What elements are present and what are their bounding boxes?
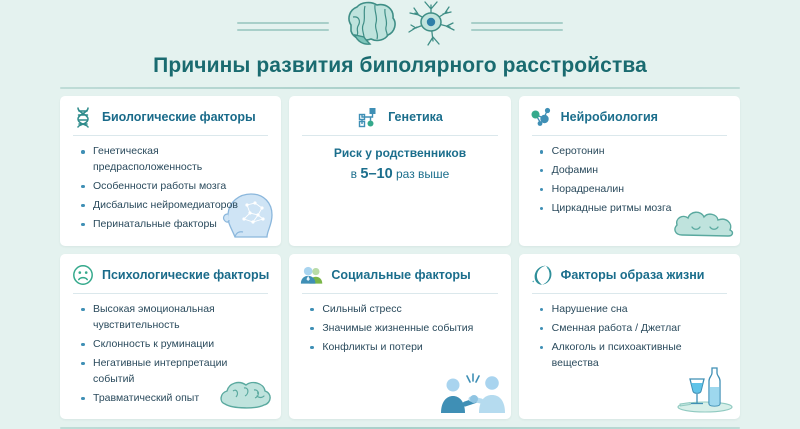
list-item: Значимые жизненные события: [310, 321, 499, 337]
card-header-divider: [73, 135, 268, 136]
card-header: Генетика: [300, 105, 499, 129]
crescent-moon-icon: [530, 263, 554, 287]
list-item: Сильный стресс: [310, 302, 499, 318]
genetics-suffix: раз выше: [393, 167, 450, 181]
genetics-risk-value: 5–10: [360, 166, 392, 182]
card-title: Генетика: [388, 110, 443, 124]
card-bullet-list: Генетическая предрасположенность Особенн…: [71, 144, 270, 233]
page-title: Причины развития биполярного расстройств…: [0, 54, 800, 78]
list-item: Нарушение сна: [540, 302, 729, 318]
dna-icon: [71, 105, 95, 129]
card-header: Биологические факторы: [71, 105, 270, 129]
list-item: Перинатальные факторы: [81, 217, 270, 233]
card-bullet-list: Нарушение сна Сменная работа / Джетлаг А…: [530, 302, 729, 372]
list-item: Серотонин: [540, 144, 729, 160]
genetics-body: Риск у родственников в 5–10 раз выше: [300, 144, 499, 185]
card-header-divider: [532, 135, 727, 136]
list-item: Дисбалыис нейромедиаторов: [81, 198, 270, 214]
list-item: Склонность к руминации: [81, 337, 270, 353]
card-header-divider: [73, 293, 268, 294]
card-bullet-list: Сильный стресс Значимые жизненные событи…: [300, 302, 499, 356]
list-item: Циркадные ритмы мозга: [540, 201, 729, 217]
card-header-divider: [532, 293, 727, 294]
card-social-factors[interactable]: Социальные факторы Сильный стресс Значим…: [289, 254, 510, 420]
list-item: Конфликты и потери: [310, 340, 499, 356]
card-header-divider: [302, 135, 497, 136]
family-tree-icon: [357, 105, 381, 129]
card-header: Психологические факторы: [71, 263, 270, 287]
brain-icon: [341, 0, 399, 54]
list-item: Генетическая предрасположенность: [81, 144, 270, 176]
header-artwork: [329, 0, 471, 54]
card-bullet-list: Серотонин Дофамин Норадреналин Циркадные…: [530, 144, 729, 217]
card-lifestyle-factors[interactable]: Факторы образа жизни Нарушение сна Сменн…: [519, 254, 740, 420]
genetics-line-1: Риск у родственников: [300, 144, 499, 163]
card-title: Биологические факторы: [102, 110, 256, 124]
card-title: Факторы образа жизни: [561, 268, 705, 282]
arguing-people-icon: [437, 370, 509, 419]
genetics-line-2: в 5–10 раз выше: [300, 163, 499, 185]
list-item: Сменная работа / Джетлаг: [540, 321, 729, 337]
list-item: Особенности работы мозга: [81, 179, 270, 195]
card-genetics[interactable]: Генетика Риск у родственников в 5–10 раз…: [289, 96, 510, 246]
list-item: Высокая эмоциональная чувствительность: [81, 302, 270, 334]
card-neurobiology[interactable]: Нейробиология Серотонин Дофамин Норадрен…: [519, 96, 740, 246]
title-divider-top: [60, 87, 740, 89]
card-bullet-list: Высокая эмоциональная чувствительность С…: [71, 302, 270, 407]
genetics-prefix: в: [351, 167, 361, 181]
header-decorative-lines-left: [237, 22, 329, 31]
card-header: Социальные факторы: [300, 263, 499, 287]
card-header: Факторы образа жизни: [530, 263, 729, 287]
factors-grid: Биологические факторы Генетическая предр…: [60, 96, 740, 419]
sad-face-icon: [71, 263, 95, 287]
alcohol-bottle-glass-icon: [674, 365, 736, 418]
card-psychological-factors[interactable]: Психологические факторы Высокая эмоциона…: [60, 254, 281, 420]
card-biological-factors[interactable]: Биологические факторы Генетическая предр…: [60, 96, 281, 246]
card-header-divider: [302, 293, 497, 294]
list-item: Травматический опыт: [81, 391, 270, 407]
header-illustration-bar: [0, 0, 800, 52]
header-decorative-lines-right: [471, 22, 563, 31]
two-people-icon: [300, 263, 324, 287]
neuron-icon: [403, 0, 459, 54]
list-item: Негативные интерпретации событий: [81, 356, 270, 388]
molecule-icon: [530, 105, 554, 129]
list-item: Алкоголь и психоактивные вещества: [540, 340, 692, 372]
list-item: Дофамин: [540, 163, 729, 179]
card-header: Нейробиология: [530, 105, 729, 129]
list-item: Норадреналин: [540, 182, 729, 198]
card-title: Психологические факторы: [102, 268, 269, 282]
card-title: Нейробиология: [561, 110, 658, 124]
card-title: Социальные факторы: [331, 268, 470, 282]
